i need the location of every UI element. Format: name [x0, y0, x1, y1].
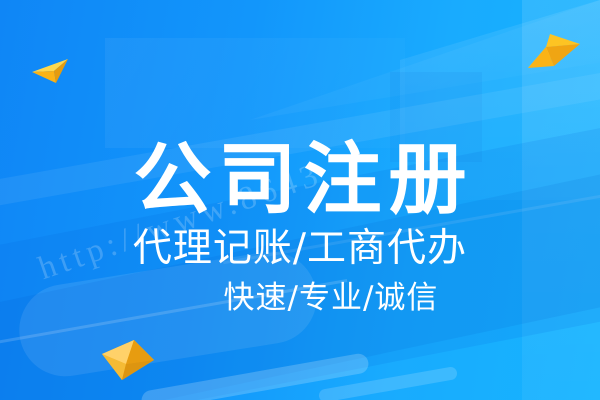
banner-text-block: 公司注册 代理记账/工商代办 快速/专业/诚信	[0, 0, 600, 400]
promotional-banner: http://www.8643 公司注册 代理记账/工商代办 快速/专业/	[0, 0, 600, 400]
banner-subline: 代理记账/工商代办	[0, 229, 600, 268]
banner-headline: 公司注册	[0, 141, 600, 219]
banner-tagline: 快速/专业/诚信	[0, 283, 600, 314]
